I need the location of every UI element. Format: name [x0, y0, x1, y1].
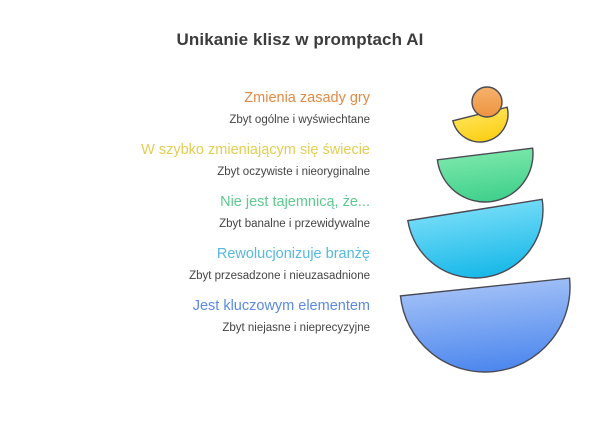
cliche-reason-2: Zbyt oczywiste i nieoryginalne — [40, 162, 370, 182]
cliche-reason-1: Zbyt ogólne i wyświechtane — [40, 110, 370, 130]
list-item: Nie jest tajemnicą, że... Zbyt banalne i… — [40, 192, 370, 234]
cliche-phrase-5: Jest kluczowym elementem — [40, 296, 370, 316]
cliche-phrase-1: Zmienia zasady gry — [40, 88, 370, 108]
cyan-semicircle — [408, 199, 553, 287]
cliche-reason-4: Zbyt przesadzone i nieuzasadnione — [40, 266, 370, 286]
cliche-phrase-3: Nie jest tajemnicą, że... — [40, 192, 370, 212]
stacked-bowls-illustration — [390, 82, 590, 392]
cliche-phrase-2: W szybko zmieniającym się świecie — [40, 140, 370, 160]
cliche-reason-5: Zbyt niejasne i nieprecyzyjne — [40, 318, 370, 338]
list-item: Zmienia zasady gry Zbyt ogólne i wyświec… — [40, 88, 370, 130]
list-item: W szybko zmieniającym się świecie Zbyt o… — [40, 140, 370, 182]
orange-circle — [472, 87, 502, 117]
list-item: Jest kluczowym elementem Zbyt niejasne i… — [40, 296, 370, 338]
list-item: Rewolucjonizuje branżę Zbyt przesadzone … — [40, 244, 370, 286]
green-semicircle — [437, 148, 538, 207]
slide-canvas: Unikanie klisz w promptach AI Zmienia za… — [0, 0, 600, 429]
page-title: Unikanie klisz w promptach AI — [0, 30, 600, 50]
blue-semicircle — [400, 278, 578, 380]
cliche-reason-3: Zbyt banalne i przewidywalne — [40, 214, 370, 234]
cliche-list: Zmienia zasady gry Zbyt ogólne i wyświec… — [40, 88, 370, 348]
cliche-phrase-4: Rewolucjonizuje branżę — [40, 244, 370, 264]
